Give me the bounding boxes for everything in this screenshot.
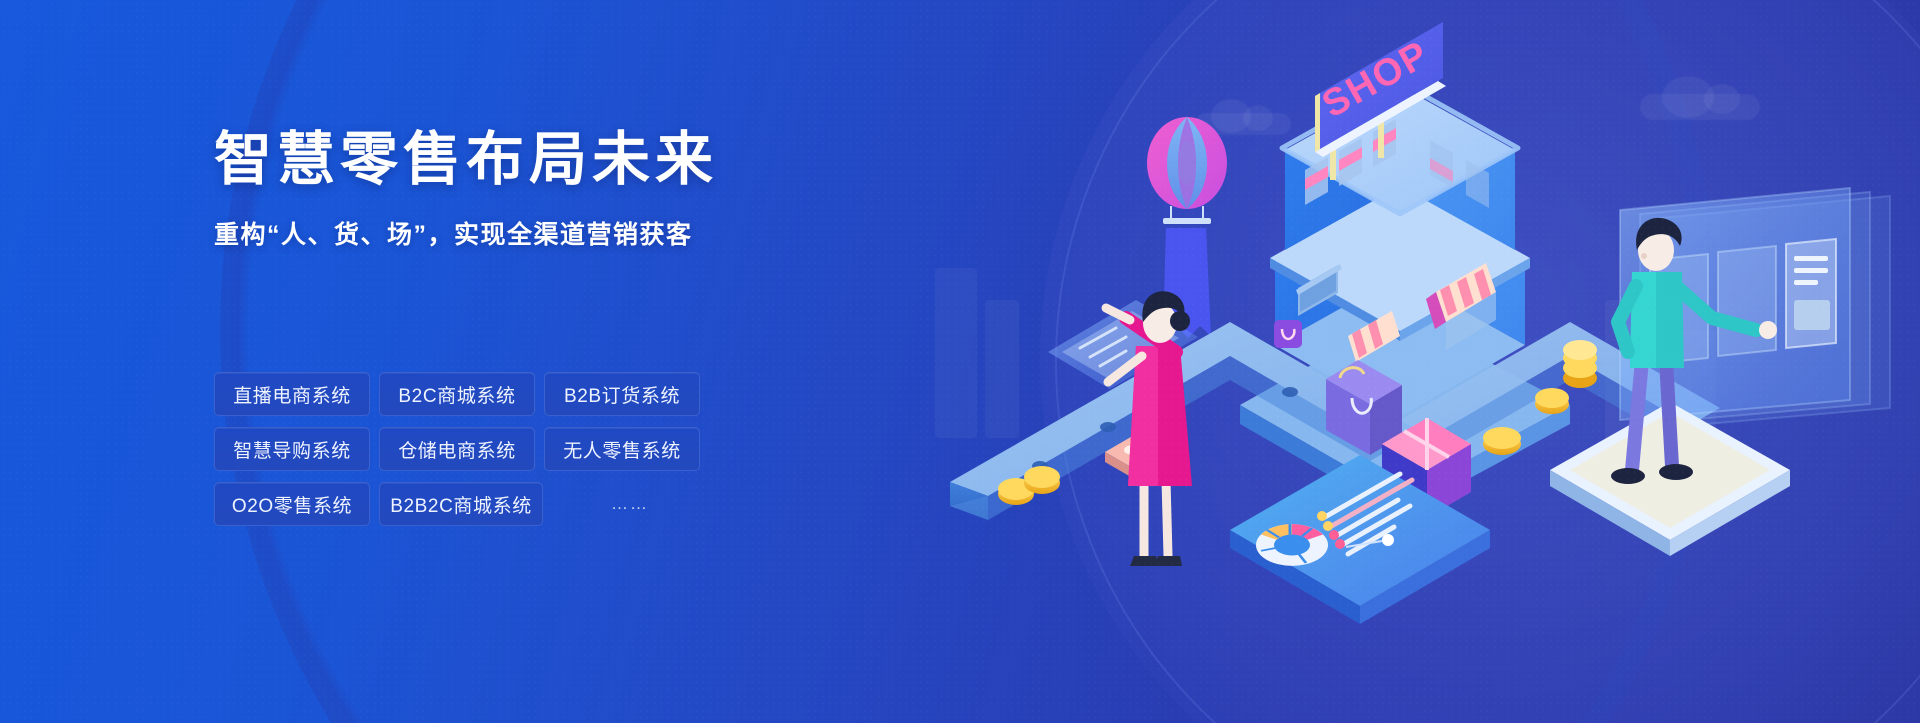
tag-more-ellipsis: …… [552, 482, 708, 526]
tag-b2b2c-mall[interactable]: B2B2C商城系统 [379, 482, 543, 526]
tag-row: 直播电商系统 B2C商城系统 B2B订货系统 [214, 372, 854, 416]
page-title: 智慧零售布局未来 [214, 128, 718, 193]
system-tag-list: 直播电商系统 B2C商城系统 B2B订货系统 智慧导购系统 仓储电商系统 无人零… [214, 372, 854, 537]
tag-row: 智慧导购系统 仓储电商系统 无人零售系统 [214, 427, 854, 471]
tag-b2c-mall[interactable]: B2C商城系统 [379, 372, 535, 416]
tag-b2b-ordering[interactable]: B2B订货系统 [544, 372, 700, 416]
tag-o2o-retail[interactable]: O2O零售系统 [214, 482, 370, 526]
hero-copy: 智慧零售布局未来 重构“人、货、场”，实现全渠道营销获客 [214, 128, 718, 251]
page-subtitle: 重构“人、货、场”，实现全渠道营销获客 [214, 215, 718, 251]
tag-smart-guide[interactable]: 智慧导购系统 [214, 427, 370, 471]
hero-illustration: SHOP [930, 0, 1920, 723]
tag-live-ecommerce[interactable]: 直播电商系统 [214, 372, 370, 416]
tag-warehouse-ecommerce[interactable]: 仓储电商系统 [379, 427, 535, 471]
shop-building-icon: SHOP [1270, 22, 1530, 417]
tag-unmanned-retail[interactable]: 无人零售系统 [544, 427, 700, 471]
tag-row: O2O零售系统 B2B2C商城系统 …… [214, 482, 854, 526]
hero-banner: 智慧零售布局未来 重构“人、货、场”，实现全渠道营销获客 直播电商系统 B2C商… [0, 0, 1920, 723]
